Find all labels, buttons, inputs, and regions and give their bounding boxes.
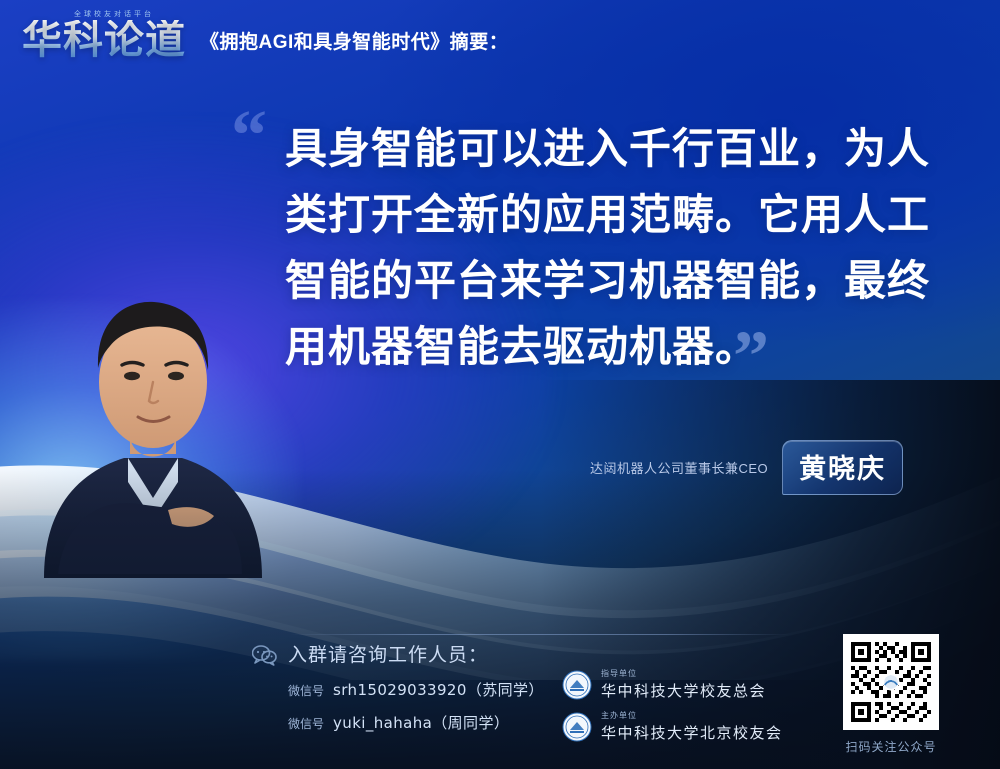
speaker-role: 达闼机器人公司董事长兼CEO — [590, 458, 768, 477]
quote-line: 具身智能可以进入千行百业，为人 — [285, 116, 945, 182]
speaker-name-badge: 黄晓庆 — [782, 440, 903, 495]
contact-row: 微信号 srh15029033920（苏同学） — [288, 679, 544, 700]
wechat-id[interactable]: yuki_hahaha（周同学） — [333, 712, 509, 733]
organization-row: 指导单位 华中科技大学校友总会 — [562, 668, 783, 701]
contact-block: 入群请咨询工作人员： 微信号 srh15029033920（苏同学） 微信号 y… — [288, 640, 544, 733]
quote-text: 具身智能可以进入千行百业，为人 类打开全新的应用范畴。它用人工 智能的平台来学习… — [285, 116, 945, 380]
qr-code-icon[interactable] — [843, 634, 939, 730]
organization-row: 主办单位 华中科技大学北京校友会 — [562, 710, 783, 743]
university-seal-icon — [562, 670, 592, 700]
qr-caption: 扫码关注公众号 — [843, 738, 939, 755]
footer-divider — [290, 634, 790, 635]
organization-name: 华中科技大学校友总会 — [601, 680, 766, 701]
quote-line: 用机器智能去驱动机器。 — [285, 314, 945, 380]
logo-wordmark: 华科论道 — [22, 20, 186, 60]
wechat-label: 微信号 — [288, 682, 324, 699]
wechat-label: 微信号 — [288, 715, 324, 732]
wechat-icon — [252, 644, 278, 671]
speaker-name: 黄晓庆 — [799, 447, 886, 486]
organization-list: 指导单位 华中科技大学校友总会 主办单位 华中科技大学北京校友会 — [562, 668, 783, 752]
qr-block: 扫码关注公众号 — [843, 634, 939, 755]
organization-kind: 指导单位 — [601, 668, 766, 679]
poster-canvas: 全球校友对话平台 华科论道 《拥抱AGI和具身智能时代》摘要： “ 具身智能可以… — [0, 0, 1000, 769]
quote-close-mark: ” — [733, 320, 769, 392]
wechat-id[interactable]: srh15029033920（苏同学） — [333, 679, 544, 700]
header: 全球校友对话平台 华科论道 《拥抱AGI和具身智能时代》摘要： — [22, 12, 508, 60]
university-seal-icon — [562, 712, 592, 742]
brand-logo: 全球校友对话平台 华科论道 — [22, 12, 186, 60]
attribution: 达闼机器人公司董事长兼CEO 黄晓庆 — [590, 440, 903, 495]
contact-row: 微信号 yuki_hahaha（周同学） — [288, 712, 544, 733]
logo-tagline: 全球校友对话平台 — [74, 9, 154, 19]
page-title: 《拥抱AGI和具身智能时代》摘要： — [200, 27, 508, 54]
organization-name: 华中科技大学北京校友会 — [601, 722, 783, 743]
contact-heading: 入群请咨询工作人员： — [288, 640, 544, 667]
quote-line: 智能的平台来学习机器智能，最终 — [285, 248, 945, 314]
quote-open-mark: “ — [231, 99, 267, 171]
quote-line: 类打开全新的应用范畴。它用人工 — [285, 182, 945, 248]
organization-kind: 主办单位 — [601, 710, 783, 721]
